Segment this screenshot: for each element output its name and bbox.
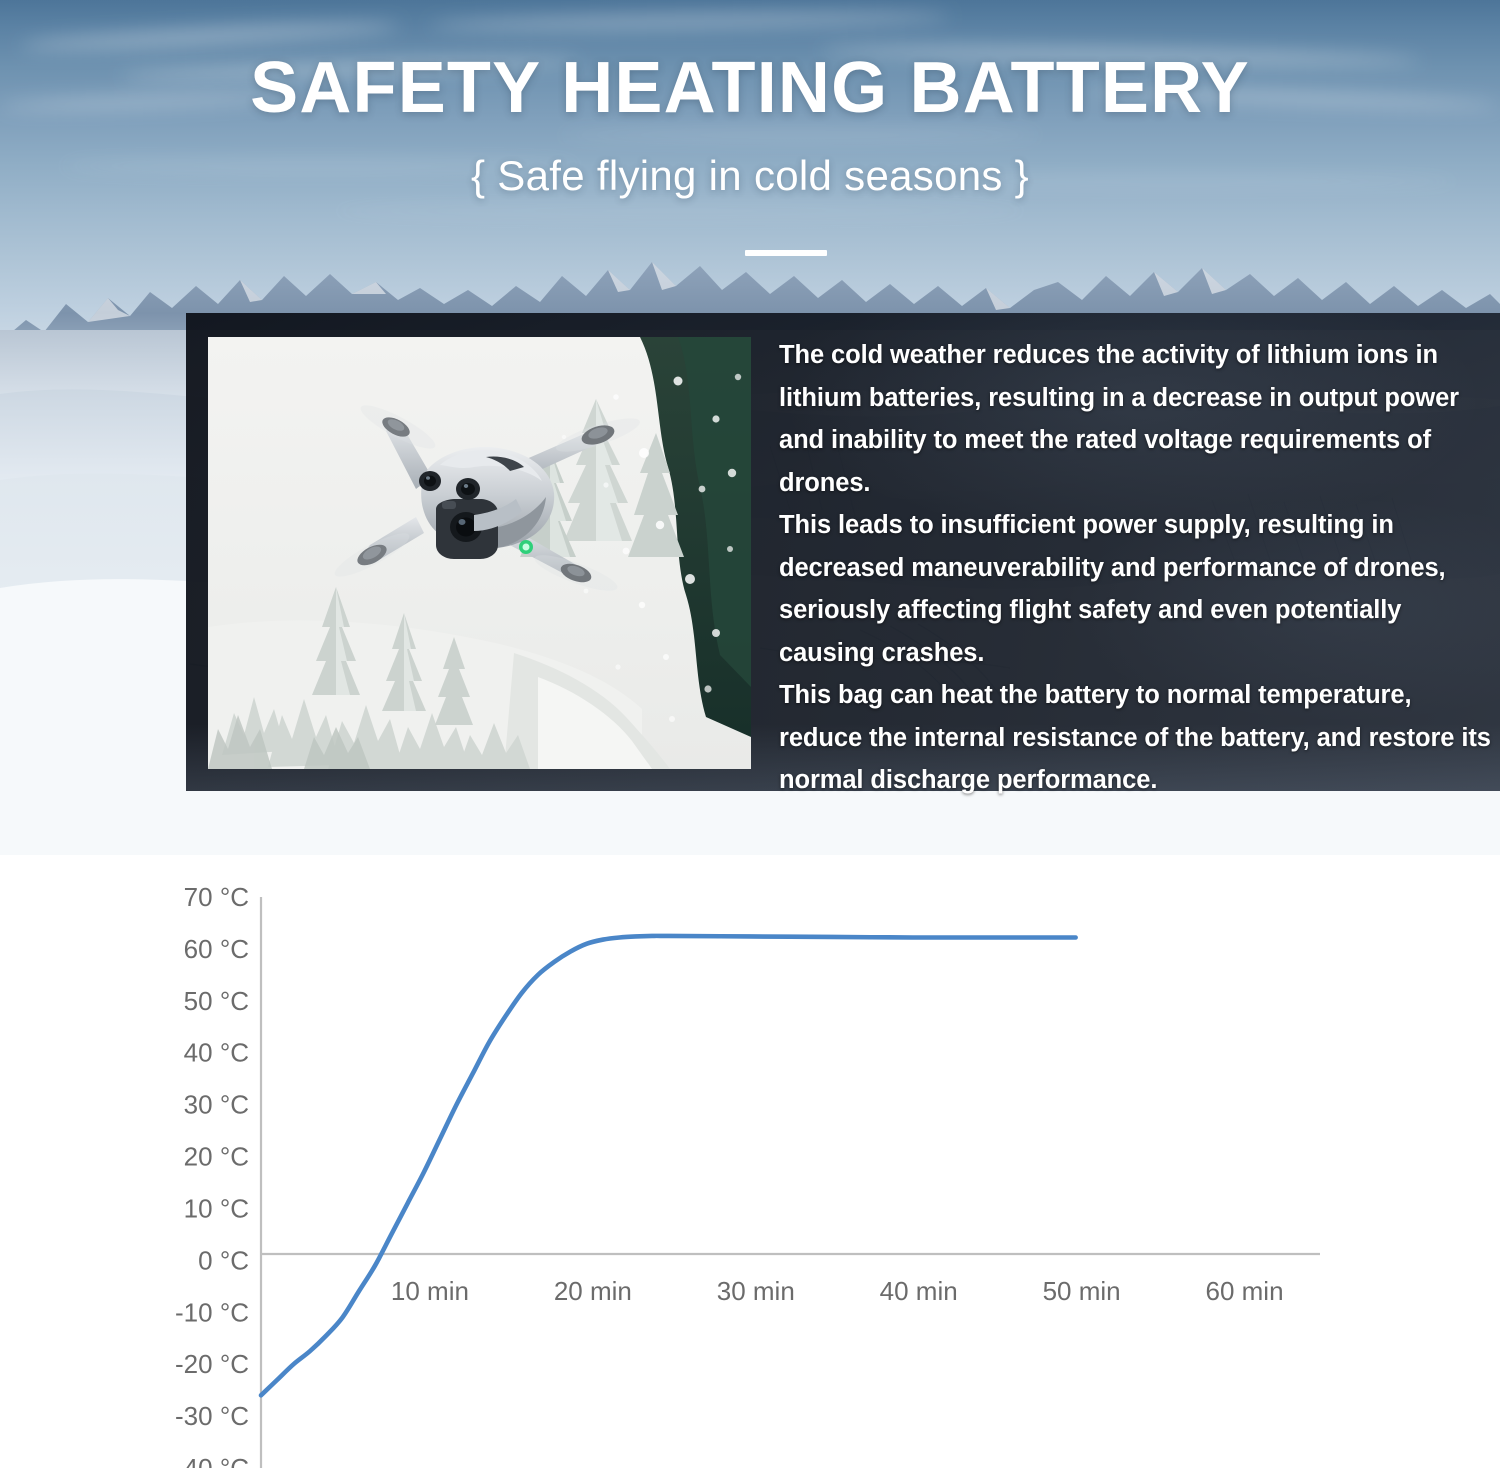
- body-paragraph-3: This bag can heat the battery to normal …: [779, 674, 1495, 802]
- x-axis-tick: 30 min: [717, 1276, 795, 1306]
- y-axis-tick: 30 °C: [184, 1090, 249, 1120]
- y-axis-tick: -40 °C: [175, 1453, 249, 1468]
- temperature-chart: 70 °C60 °C50 °C40 °C30 °C20 °C10 °C0 °C-…: [0, 855, 1500, 1468]
- y-axis-tick: -20 °C: [175, 1349, 249, 1379]
- y-axis-tick: 0 °C: [198, 1245, 249, 1275]
- chart-canvas: 70 °C60 °C50 °C40 °C30 °C20 °C10 °C0 °C-…: [0, 855, 1500, 1468]
- y-axis-tick: 50 °C: [184, 986, 249, 1016]
- y-axis-tick: 20 °C: [184, 1142, 249, 1172]
- hero-section: SAFETY HEATING BATTERY { Safe flying in …: [0, 0, 1500, 855]
- x-axis-tick: 50 min: [1043, 1276, 1121, 1306]
- y-axis-tick: 60 °C: [184, 934, 249, 964]
- x-axis-tick: 10 min: [391, 1276, 469, 1306]
- drone-photo: [208, 337, 751, 769]
- page-subtitle: { Safe flying in cold seasons }: [0, 152, 1500, 200]
- y-axis-tick-labels: 70 °C60 °C50 °C40 °C30 °C20 °C10 °C0 °C-…: [175, 882, 249, 1468]
- body-paragraph-2: This leads to insufficient power supply,…: [779, 504, 1495, 674]
- x-axis-tick: 40 min: [880, 1276, 958, 1306]
- y-axis-tick: 40 °C: [184, 1038, 249, 1068]
- y-axis-tick: -10 °C: [175, 1297, 249, 1327]
- temperature-series-line: [261, 936, 1076, 1395]
- hero-body-text: The cold weather reduces the activity of…: [779, 334, 1495, 802]
- y-axis-tick: 70 °C: [184, 882, 249, 912]
- y-axis-tick: -30 °C: [175, 1401, 249, 1431]
- x-axis-tick-labels: 10 min20 min30 min40 min50 min60 min: [391, 1276, 1284, 1306]
- x-axis-tick: 20 min: [554, 1276, 632, 1306]
- y-axis-tick: 10 °C: [184, 1193, 249, 1223]
- cloud-wisp: [430, 9, 950, 32]
- page-title: SAFETY HEATING BATTERY: [0, 52, 1500, 124]
- x-axis-tick: 60 min: [1206, 1276, 1284, 1306]
- infographic-page: SAFETY HEATING BATTERY { Safe flying in …: [0, 0, 1500, 1468]
- body-paragraph-1: The cold weather reduces the activity of…: [779, 334, 1495, 504]
- title-divider: [745, 250, 827, 256]
- cloud-wisp: [330, 206, 1030, 216]
- cloud-wisp: [560, 130, 1040, 140]
